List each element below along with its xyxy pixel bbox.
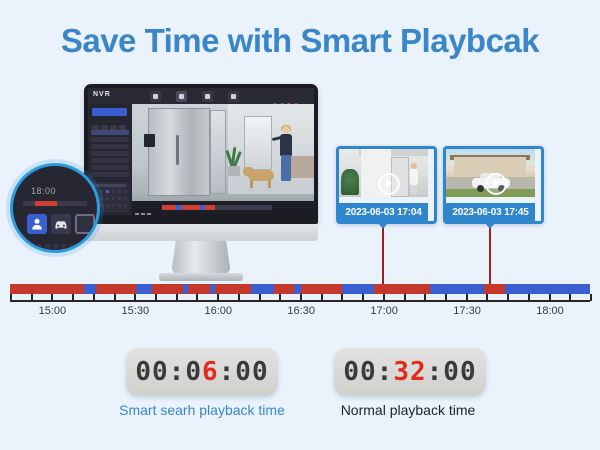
timeline-tick — [300, 294, 302, 301]
calendar-header — [94, 184, 126, 187]
timeline-segment-recorded — [152, 284, 183, 294]
timeline-label: 18:00 — [536, 305, 564, 317]
monitor: NVR — [84, 84, 318, 284]
transport-controls[interactable] — [135, 205, 159, 211]
calendar-day[interactable] — [124, 204, 127, 207]
smart-search-clock: 00:06:00 — [126, 348, 278, 396]
timeline-tick — [321, 294, 323, 301]
video-bag — [144, 134, 155, 147]
thumbnail-connector-2 — [489, 228, 491, 288]
monitor-stand-neck — [171, 241, 231, 275]
car-filter-icon[interactable] — [51, 214, 71, 234]
timeline-tick — [341, 294, 343, 301]
channel-button[interactable] — [92, 108, 127, 116]
timeline-tick — [528, 294, 530, 301]
timeline-tick — [259, 294, 261, 301]
timeline-segment-recorded — [96, 284, 137, 294]
magnifier-timeline — [23, 201, 87, 206]
timeline-tick — [590, 294, 592, 301]
playback-timeline[interactable] — [162, 205, 272, 210]
video-plant — [224, 144, 244, 176]
timeline-segment-recorded — [188, 284, 210, 294]
timeline-label: 17:00 — [370, 305, 398, 317]
timeline-label: 15:30 — [122, 305, 150, 317]
calendar-day[interactable] — [118, 190, 121, 193]
timeline-segment-recorded — [274, 284, 294, 294]
timeline-tick — [114, 294, 116, 301]
normal-playback-label: Normal playback time — [258, 402, 558, 418]
person-filter-icon[interactable] — [27, 214, 47, 234]
timeline-label: 15:00 — [39, 305, 67, 317]
timeline-segment-recorded — [374, 284, 430, 294]
calendar-day[interactable] — [100, 190, 103, 193]
timeline-tick — [362, 294, 364, 301]
timeline-tick — [134, 294, 136, 301]
calendar-day[interactable] — [112, 204, 115, 207]
monitor-chin — [84, 224, 318, 241]
timeline-tick — [569, 294, 571, 301]
nvr-screen: NVR — [88, 88, 314, 215]
list-item[interactable] — [91, 151, 129, 156]
monitor-stand-base — [159, 273, 243, 281]
live-video-feed[interactable] — [132, 104, 314, 215]
timeline-tick — [383, 294, 385, 301]
timeline-tick — [72, 294, 74, 301]
magnifier-grid — [21, 236, 91, 244]
video-interior — [244, 116, 272, 170]
timeline-segment-recorded — [10, 284, 84, 294]
timeline-tick — [93, 294, 95, 301]
calendar-day[interactable] — [124, 190, 127, 193]
timeline-tick — [279, 294, 281, 301]
calendar-day[interactable] — [112, 190, 115, 193]
recording-timeline-bar[interactable] — [10, 284, 590, 294]
nvr-logo: NVR — [93, 91, 111, 98]
poster-canvas: Save Time with Smart Playbcak NVR — [0, 0, 600, 450]
film-icon[interactable] — [202, 91, 213, 102]
timeline-label: 17:30 — [453, 305, 481, 317]
list-item[interactable] — [91, 137, 129, 142]
video-door — [148, 108, 210, 196]
timeline-tick — [196, 294, 198, 301]
cloud-icon[interactable] — [150, 91, 161, 102]
normal-playback-time: 00:32:00 — [343, 357, 476, 387]
normal-playback-clock: 00:32:00 — [334, 348, 486, 396]
magnifier-time-label: 18:00 — [31, 186, 56, 196]
timeline-tick — [238, 294, 240, 301]
smart-search-time: 00:06:00 — [135, 357, 268, 387]
thumbnail-connector-1 — [382, 228, 384, 288]
timeline-tick — [217, 294, 219, 301]
timeline-label: 16:30 — [287, 305, 315, 317]
timeline-segment-recorded — [215, 284, 251, 294]
calendar-day[interactable] — [124, 197, 127, 200]
calendar-day[interactable] — [106, 197, 109, 200]
event-thumbnail-2[interactable]: 2023-06-03 17:45 — [443, 146, 544, 224]
timeline-tick — [507, 294, 509, 301]
monitor-bezel: NVR — [84, 84, 318, 224]
pause-icon[interactable] — [141, 213, 145, 215]
play-icon[interactable] — [485, 173, 507, 195]
timeline-label: 16:00 — [204, 305, 232, 317]
timeline-tick — [176, 294, 178, 301]
list-item[interactable] — [91, 130, 129, 135]
event-thumbnail-1[interactable]: 2023-06-03 17:04 — [336, 146, 437, 224]
timeline-tick — [424, 294, 426, 301]
list-item[interactable] — [91, 158, 129, 163]
square-filter-icon[interactable] — [75, 214, 95, 234]
page-title: Save Time with Smart Playbcak — [0, 22, 600, 60]
timeline-tick — [51, 294, 53, 301]
timeline-tick — [486, 294, 488, 301]
calendar-day[interactable] — [100, 197, 103, 200]
gear-icon[interactable] — [228, 91, 239, 102]
calendar-day[interactable] — [100, 204, 103, 207]
video-person — [278, 126, 296, 192]
stop-icon[interactable] — [147, 213, 151, 215]
timeline-tick — [404, 294, 406, 301]
timeline-tick — [155, 294, 157, 301]
calendar-day[interactable] — [112, 197, 115, 200]
play-icon[interactable] — [378, 173, 400, 195]
list-item[interactable] — [91, 172, 129, 177]
camera-icon[interactable] — [176, 91, 187, 102]
video-dog — [244, 166, 278, 188]
playback-control-bar[interactable] — [132, 201, 314, 215]
play-icon[interactable] — [135, 213, 139, 215]
timeline-segment-recorded — [301, 284, 342, 294]
playback-options[interactable] — [260, 206, 310, 210]
sidebar-icon-row[interactable] — [92, 119, 128, 126]
timeline-tick — [549, 294, 551, 301]
timeline-tick — [31, 294, 33, 301]
magnifier-callout: 18:00 — [10, 163, 100, 253]
calendar-day[interactable] — [106, 204, 109, 207]
list-item[interactable] — [91, 144, 129, 149]
nvr-toolbar: NVR — [88, 88, 314, 105]
calendar-day[interactable] — [118, 197, 121, 200]
timeline-tick — [445, 294, 447, 301]
calendar-day[interactable] — [118, 204, 121, 207]
timeline-segment-recorded — [484, 284, 504, 294]
calendar-day-selected[interactable] — [106, 190, 109, 193]
timeline-tick — [10, 294, 12, 301]
list-item[interactable] — [91, 165, 129, 170]
window-controls[interactable] — [270, 94, 310, 99]
thumbnail-person — [409, 163, 418, 193]
timeline-tick — [466, 294, 468, 301]
